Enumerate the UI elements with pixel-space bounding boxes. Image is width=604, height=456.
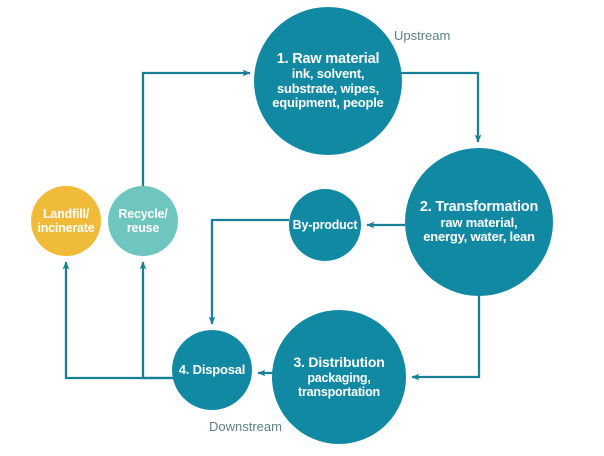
- node-distribution-sub-2: transportation: [298, 385, 380, 399]
- diagram-canvas: 1. Raw material ink, solvent, substrate,…: [0, 0, 604, 456]
- edge-raw-material-to-transformation: [398, 73, 478, 142]
- node-transformation-sub-2: energy, water, lean: [423, 230, 535, 245]
- node-distribution-title: 3. Distribution: [293, 355, 384, 371]
- node-raw-material[interactable]: 1. Raw material ink, solvent, substrate,…: [254, 7, 402, 155]
- node-disposal-title: 4. Disposal: [179, 363, 245, 378]
- node-distribution-sub-1: packaging,: [307, 371, 370, 385]
- node-landfill-incinerate[interactable]: Landfill/ incinerate: [31, 186, 101, 256]
- label-upstream: Upstream: [394, 28, 450, 43]
- node-transformation[interactable]: 2. Transformation raw material, energy, …: [405, 148, 553, 296]
- node-landfill-line-2: incinerate: [37, 221, 94, 235]
- node-transformation-title: 2. Transformation: [420, 199, 538, 215]
- node-transformation-sub-1: raw material,: [441, 216, 518, 231]
- node-raw-material-sub-2: substrate, wipes,: [277, 82, 379, 97]
- node-raw-material-sub-1: ink, solvent,: [292, 67, 365, 82]
- edge-byproduct-to-disposal: [212, 220, 289, 324]
- node-byproduct[interactable]: By-product: [289, 189, 361, 261]
- node-recycle-line-1: Recycle/: [118, 207, 167, 221]
- node-recycle-reuse[interactable]: Recycle/ reuse: [108, 186, 178, 256]
- edge-transformation-to-distribution: [412, 296, 479, 377]
- edge-disposal-to-recycle: [143, 262, 174, 378]
- node-distribution[interactable]: 3. Distribution packaging, transportatio…: [272, 310, 406, 444]
- node-raw-material-sub-3: equipment, people: [272, 96, 383, 111]
- node-recycle-line-2: reuse: [127, 221, 159, 235]
- edge-disposal-to-landfill: [66, 262, 174, 378]
- node-raw-material-title: 1. Raw material: [277, 51, 380, 67]
- node-byproduct-title: By-product: [293, 218, 358, 232]
- edge-recycle-to-raw-material: [143, 73, 250, 186]
- label-downstream: Downstream: [209, 419, 282, 434]
- node-disposal[interactable]: 4. Disposal: [172, 330, 252, 410]
- node-landfill-line-1: Landfill/: [43, 207, 89, 221]
